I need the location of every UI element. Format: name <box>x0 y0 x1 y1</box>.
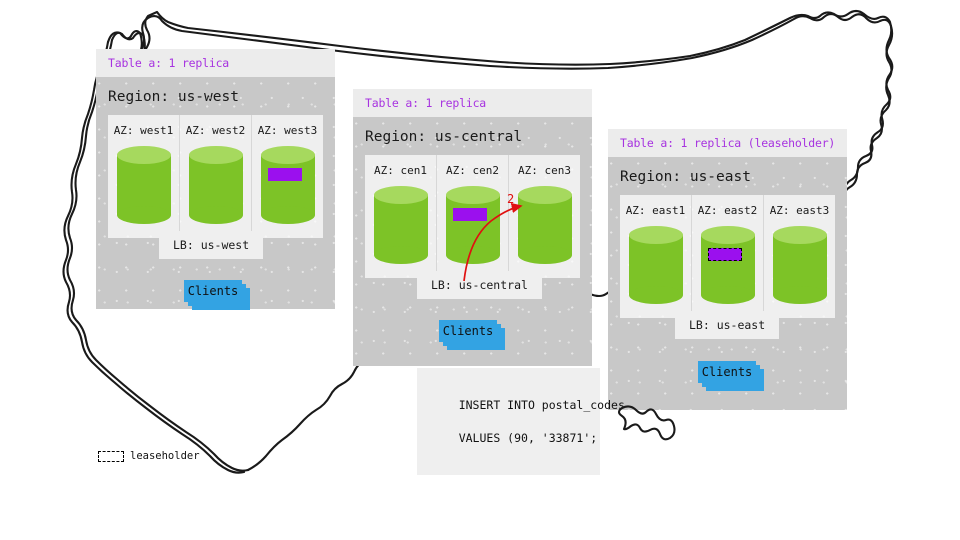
node-cylinder[interactable] <box>773 226 827 304</box>
leaseholder-swatch-icon <box>98 451 124 462</box>
az-cell-west2[interactable]: AZ: west2 <box>180 115 252 238</box>
cylinder-top <box>773 226 827 244</box>
az-cell-west3[interactable]: AZ: west3 <box>252 115 323 238</box>
cylinder-bottom <box>261 206 315 224</box>
az-cell-east2[interactable]: AZ: east2 <box>692 195 764 318</box>
cylinder-bottom <box>374 246 428 264</box>
cylinder-top <box>629 226 683 244</box>
node-cylinder[interactable] <box>374 186 428 264</box>
az-label: AZ: west3 <box>258 124 318 137</box>
az-cell-east1[interactable]: AZ: east1 <box>620 195 692 318</box>
cylinder-top <box>117 146 171 164</box>
region-panel-us-west: Table a: 1 replica Region: us-west AZ: w… <box>96 49 335 309</box>
routing-arrow-label: 2 <box>507 192 514 206</box>
cylinder-top <box>446 186 500 204</box>
clients-us-west[interactable]: Clients <box>184 280 250 310</box>
node-cylinder[interactable] <box>701 226 755 304</box>
cylinder-top <box>374 186 428 204</box>
cylinder-bottom <box>446 246 500 264</box>
region-title: Region: us-west <box>96 77 335 115</box>
cylinder-bottom <box>629 286 683 304</box>
az-label: AZ: cen2 <box>446 164 499 177</box>
cylinder-top <box>518 186 572 204</box>
node-cylinder[interactable] <box>518 186 572 264</box>
load-balancer-us-east[interactable]: LB: us-east <box>675 311 779 339</box>
region-table-banner: Table a: 1 replica (leaseholder) <box>608 129 847 157</box>
load-balancer-us-central[interactable]: LB: us-central <box>417 271 542 299</box>
diagram-canvas: Table a: 1 replica Region: us-west AZ: w… <box>0 0 960 540</box>
az-row: AZ: cen1 AZ: cen2 <box>365 155 580 278</box>
cylinder-bottom <box>701 286 755 304</box>
clients-us-east[interactable]: Clients <box>698 361 764 391</box>
az-cell-west1[interactable]: AZ: west1 <box>108 115 180 238</box>
node-cylinder[interactable] <box>189 146 243 224</box>
region-table-banner: Table a: 1 replica <box>353 89 592 117</box>
region-title: Region: us-east <box>608 157 847 195</box>
az-label: AZ: west2 <box>186 124 246 137</box>
sql-line-1: INSERT INTO postal_codes <box>459 398 625 412</box>
node-cylinder[interactable] <box>629 226 683 304</box>
az-label: AZ: east2 <box>698 204 758 217</box>
region-panel-us-central: Table a: 1 replica Region: us-central AZ… <box>353 89 592 366</box>
region-title: Region: us-central <box>353 117 592 155</box>
range-leaseholder-block[interactable] <box>708 248 742 261</box>
sql-statement-box: INSERT INTO postal_codes VALUES (90, '33… <box>417 368 600 475</box>
clients-label[interactable]: Clients <box>184 280 242 302</box>
az-cell-cen1[interactable]: AZ: cen1 <box>365 155 437 278</box>
clients-label[interactable]: Clients <box>698 361 756 383</box>
region-table-banner: Table a: 1 replica <box>96 49 335 77</box>
az-label: AZ: east1 <box>626 204 686 217</box>
node-cylinder[interactable] <box>117 146 171 224</box>
cylinder-top <box>261 146 315 164</box>
clients-label[interactable]: Clients <box>439 320 497 342</box>
cylinder-top <box>701 226 755 244</box>
az-label: AZ: west1 <box>114 124 174 137</box>
az-cell-east3[interactable]: AZ: east3 <box>764 195 835 318</box>
range-replica-block[interactable] <box>453 208 487 221</box>
clients-us-central[interactable]: Clients <box>439 320 505 350</box>
az-cell-cen3[interactable]: AZ: cen3 <box>509 155 580 278</box>
cylinder-top <box>189 146 243 164</box>
az-row: AZ: west1 AZ: west2 AZ <box>108 115 323 238</box>
cylinder-bottom <box>189 206 243 224</box>
sql-line-2: VALUES (90, '33871'; <box>459 431 597 445</box>
node-cylinder[interactable] <box>261 146 315 224</box>
cylinder-bottom <box>773 286 827 304</box>
node-cylinder[interactable] <box>446 186 500 264</box>
az-row: AZ: east1 AZ: east2 <box>620 195 835 318</box>
legend-leaseholder: leaseholder <box>98 450 200 462</box>
az-cell-cen2[interactable]: AZ: cen2 <box>437 155 509 278</box>
region-panel-us-east: Table a: 1 replica (leaseholder) Region:… <box>608 129 847 410</box>
cylinder-bottom <box>518 246 572 264</box>
az-label: AZ: east3 <box>770 204 830 217</box>
az-label: AZ: cen1 <box>374 164 427 177</box>
az-label: AZ: cen3 <box>518 164 571 177</box>
legend-label: leaseholder <box>130 450 200 462</box>
range-replica-block[interactable] <box>268 168 302 181</box>
cylinder-bottom <box>117 206 171 224</box>
load-balancer-us-west[interactable]: LB: us-west <box>159 231 263 259</box>
